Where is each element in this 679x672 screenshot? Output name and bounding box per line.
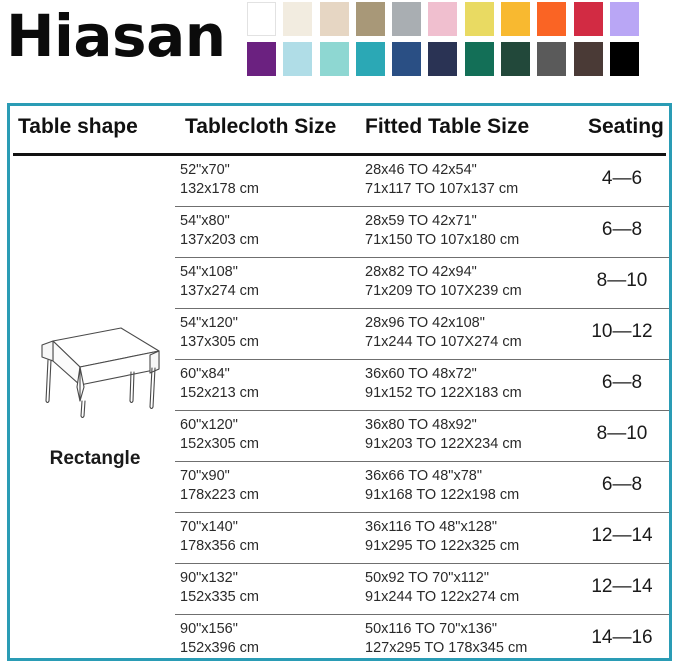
color-swatch-ivory[interactable]: [283, 2, 312, 36]
color-swatch-emerald-green[interactable]: [465, 42, 494, 76]
table-row: 54"x120"137x305 cm28x96 TO 42x108"71x244…: [175, 308, 669, 359]
color-swatch-white[interactable]: [247, 2, 276, 36]
color-swatch-golden-yellow[interactable]: [501, 2, 530, 36]
table-row: 54"x108"137x274 cm28x82 TO 42x94"71x209 …: [175, 257, 669, 308]
fitted-size-cm: 91x244 TO 122x274 cm: [365, 588, 519, 607]
color-swatch-taupe[interactable]: [356, 2, 385, 36]
color-swatch-charcoal-grey[interactable]: [537, 42, 566, 76]
fitted-size-inches: 36x66 TO 48"x78": [365, 467, 519, 486]
table-row: 70"x90"178x223 cm36x66 TO 48"x78"91x168 …: [175, 461, 669, 512]
cell-tablecloth-size: 70"x90"178x223 cm: [180, 467, 259, 505]
tablecloth-size-cm: 132x178 cm: [180, 180, 259, 199]
fitted-size-cm: 91x203 TO 122X234 cm: [365, 435, 522, 454]
fitted-size-cm: 71x244 TO 107X274 cm: [365, 333, 522, 352]
tablecloth-size-cm: 178x223 cm: [180, 486, 259, 505]
cell-fitted-table-size: 36x80 TO 48x92"91x203 TO 122X234 cm: [365, 416, 522, 454]
color-swatch-silver-grey[interactable]: [392, 2, 421, 36]
tablecloth-size-cm: 137x305 cm: [180, 333, 259, 352]
cell-tablecloth-size: 54"x120"137x305 cm: [180, 314, 259, 352]
cell-seating: 8—10: [579, 424, 665, 443]
cell-fitted-table-size: 36x60 TO 48x72"91x152 TO 122X183 cm: [365, 365, 522, 403]
color-swatch-purple[interactable]: [247, 42, 276, 76]
fitted-size-inches: 36x116 TO 48"x128": [365, 518, 519, 537]
tablecloth-size-cm: 152x396 cm: [180, 639, 259, 658]
tablecloth-size-inches: 60"x120": [180, 416, 259, 435]
cell-seating: 4—6: [579, 169, 665, 188]
tablecloth-size-inches: 70"x140": [180, 518, 259, 537]
tablecloth-size-cm: 152x335 cm: [180, 588, 259, 607]
size-rows-container: 52"x70"132x178 cm28x46 TO 42x54"71x117 T…: [175, 156, 669, 665]
table-header-row: Table shape Tablecloth Size Fitted Table…: [10, 106, 669, 148]
table-row: 60"x84"152x213 cm36x60 TO 48x72"91x152 T…: [175, 359, 669, 410]
rectangle-table-icon: [20, 315, 170, 425]
fitted-size-cm: 91x152 TO 122X183 cm: [365, 384, 522, 403]
cell-tablecloth-size: 90"x132"152x335 cm: [180, 569, 259, 607]
cell-seating: 6—8: [579, 220, 665, 239]
column-header-fitted-table-size: Fitted Table Size: [365, 115, 529, 139]
color-swatch-red[interactable]: [574, 2, 603, 36]
fitted-size-cm: 127x295 TO 178x345 cm: [365, 639, 527, 658]
color-swatch-orange[interactable]: [537, 2, 566, 36]
tablecloth-size-inches: 54"x108": [180, 263, 259, 282]
tablecloth-size-cm: 137x274 cm: [180, 282, 259, 301]
cell-seating: 6—8: [579, 475, 665, 494]
cell-seating: 10—12: [579, 322, 665, 341]
fitted-size-inches: 36x80 TO 48x92": [365, 416, 522, 435]
table-row: 90"x156"152x396 cm50x116 TO 70"x136"127x…: [175, 614, 669, 665]
color-swatch-beige[interactable]: [320, 2, 349, 36]
cell-tablecloth-size: 54"x80"137x203 cm: [180, 212, 259, 250]
color-swatch-teal[interactable]: [356, 42, 385, 76]
fitted-size-inches: 28x96 TO 42x108": [365, 314, 522, 333]
cell-seating: 8—10: [579, 271, 665, 290]
cell-fitted-table-size: 28x59 TO 42x71"71x150 TO 107x180 cm: [365, 212, 519, 250]
brand-logo: Hiasan: [6, 4, 226, 68]
cell-fitted-table-size: 28x46 TO 42x54"71x117 TO 107x137 cm: [365, 161, 518, 199]
cell-tablecloth-size: 60"x84"152x213 cm: [180, 365, 259, 403]
table-row: 54"x80"137x203 cm28x59 TO 42x71"71x150 T…: [175, 206, 669, 257]
column-header-tablecloth-size: Tablecloth Size: [185, 115, 336, 139]
tablecloth-size-inches: 70"x90": [180, 467, 259, 486]
cell-tablecloth-size: 60"x120"152x305 cm: [180, 416, 259, 454]
tablecloth-size-cm: 152x213 cm: [180, 384, 259, 403]
table-row: 70"x140"178x356 cm36x116 TO 48"x128"91x2…: [175, 512, 669, 563]
color-swatch-navy[interactable]: [428, 42, 457, 76]
tablecloth-size-inches: 90"x132": [180, 569, 259, 588]
cell-tablecloth-size: 52"x70"132x178 cm: [180, 161, 259, 199]
color-swatch-blush-pink[interactable]: [428, 2, 457, 36]
color-swatch-denim-blue[interactable]: [392, 42, 421, 76]
color-swatch-black[interactable]: [610, 42, 639, 76]
fitted-size-inches: 50x92 TO 70"x112": [365, 569, 519, 588]
cell-fitted-table-size: 28x82 TO 42x94"71x209 TO 107X239 cm: [365, 263, 522, 301]
cell-seating: 12—14: [579, 526, 665, 545]
tablecloth-size-inches: 54"x80": [180, 212, 259, 231]
fitted-size-cm: 71x150 TO 107x180 cm: [365, 231, 519, 250]
tablecloth-size-cm: 152x305 cm: [180, 435, 259, 454]
table-shape-label: Rectangle: [12, 448, 178, 470]
color-swatch-dark-brown[interactable]: [574, 42, 603, 76]
fitted-size-cm: 91x168 TO 122x198 cm: [365, 486, 519, 505]
fitted-size-cm: 91x295 TO 122x325 cm: [365, 537, 519, 556]
tablecloth-size-inches: 52"x70": [180, 161, 259, 180]
cell-seating: 12—14: [579, 577, 665, 596]
cell-tablecloth-size: 70"x140"178x356 cm: [180, 518, 259, 556]
fitted-size-cm: 71x209 TO 107X239 cm: [365, 282, 522, 301]
brand-header: Hiasan: [0, 0, 679, 92]
color-swatch-lavender[interactable]: [610, 2, 639, 36]
cell-fitted-table-size: 36x116 TO 48"x128"91x295 TO 122x325 cm: [365, 518, 519, 556]
cell-fitted-table-size: 50x116 TO 70"x136"127x295 TO 178x345 cm: [365, 620, 527, 658]
fitted-size-inches: 28x59 TO 42x71": [365, 212, 519, 231]
fitted-size-inches: 36x60 TO 48x72": [365, 365, 522, 384]
cell-tablecloth-size: 90"x156"152x396 cm: [180, 620, 259, 658]
color-swatch-grid: [247, 2, 675, 82]
tablecloth-size-inches: 60"x84": [180, 365, 259, 384]
table-row: 60"x120"152x305 cm36x80 TO 48x92"91x203 …: [175, 410, 669, 461]
cell-seating: 14—16: [579, 628, 665, 647]
tablecloth-size-cm: 178x356 cm: [180, 537, 259, 556]
tablecloth-size-inches: 90"x156": [180, 620, 259, 639]
fitted-size-inches: 28x82 TO 42x94": [365, 263, 522, 282]
cell-tablecloth-size: 54"x108"137x274 cm: [180, 263, 259, 301]
color-swatch-hunter-green[interactable]: [501, 42, 530, 76]
swatch-row-1: [247, 2, 675, 38]
cell-fitted-table-size: 28x96 TO 42x108"71x244 TO 107X274 cm: [365, 314, 522, 352]
column-header-table-shape: Table shape: [18, 115, 138, 139]
size-chart-card: Table shape Tablecloth Size Fitted Table…: [7, 103, 672, 661]
swatch-row-2: [247, 42, 675, 78]
table-shape-cell: Rectangle: [12, 158, 178, 658]
color-swatch-light-yellow[interactable]: [465, 2, 494, 36]
tablecloth-size-cm: 137x203 cm: [180, 231, 259, 250]
table-row: 90"x132"152x335 cm50x92 TO 70"x112"91x24…: [175, 563, 669, 614]
fitted-size-cm: 71x117 TO 107x137 cm: [365, 180, 518, 199]
column-header-seating: Seating: [588, 115, 664, 139]
cell-fitted-table-size: 36x66 TO 48"x78"91x168 TO 122x198 cm: [365, 467, 519, 505]
cell-seating: 6—8: [579, 373, 665, 392]
fitted-size-inches: 50x116 TO 70"x136": [365, 620, 527, 639]
cell-fitted-table-size: 50x92 TO 70"x112"91x244 TO 122x274 cm: [365, 569, 519, 607]
tablecloth-size-inches: 54"x120": [180, 314, 259, 333]
color-swatch-aqua[interactable]: [320, 42, 349, 76]
color-swatch-light-blue[interactable]: [283, 42, 312, 76]
fitted-size-inches: 28x46 TO 42x54": [365, 161, 518, 180]
table-row: 52"x70"132x178 cm28x46 TO 42x54"71x117 T…: [175, 156, 669, 206]
